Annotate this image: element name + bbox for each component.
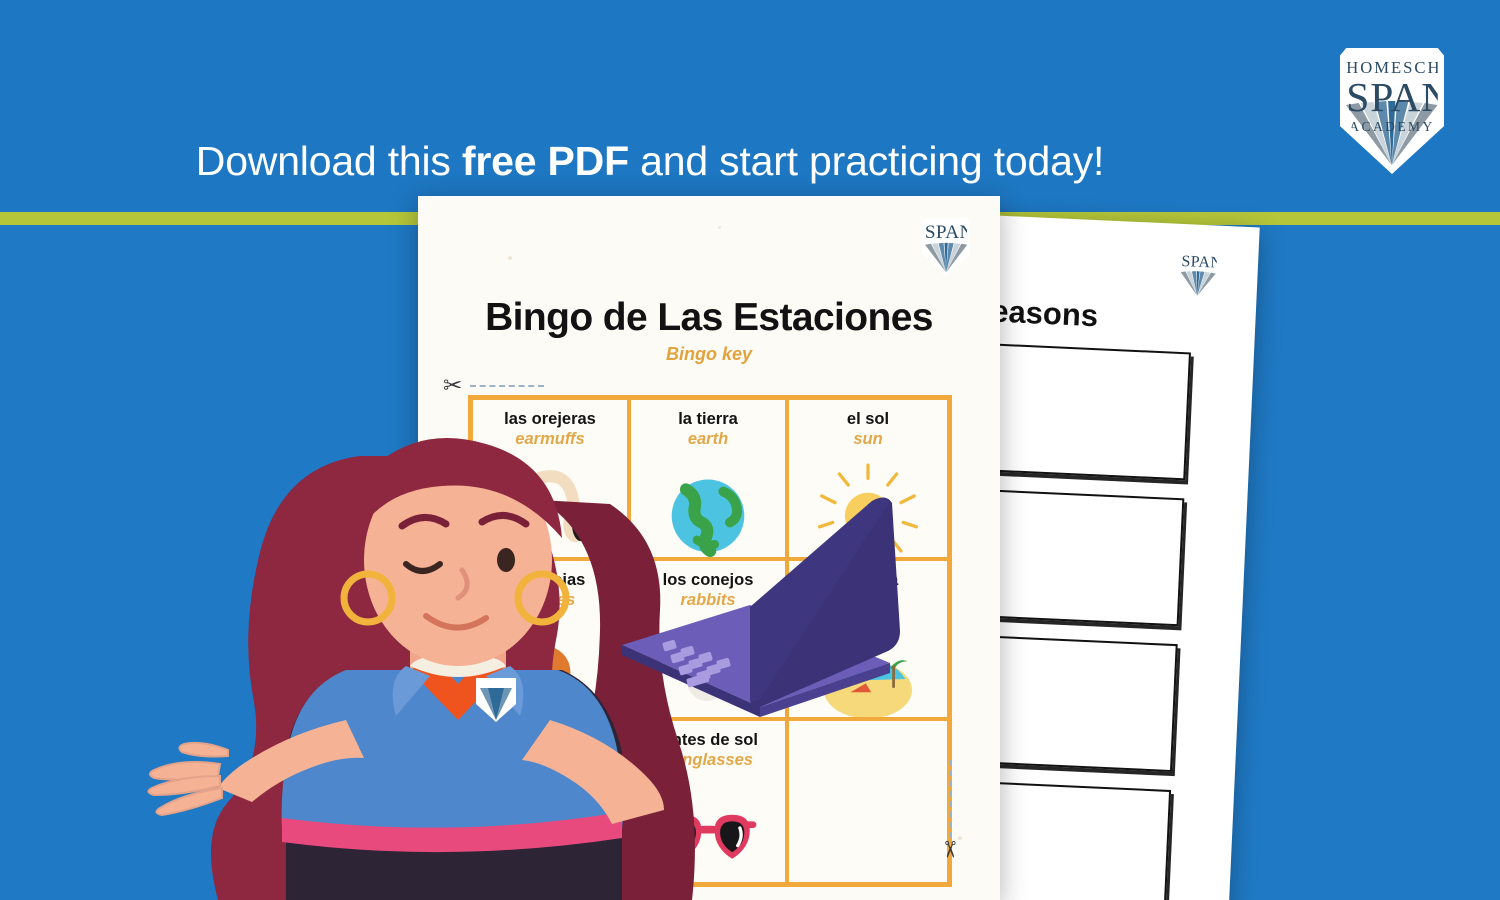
- cut-line-horizontal: [470, 385, 544, 389]
- worksheet-subtitle: Bingo key: [418, 344, 1000, 365]
- cut-line-vertical: [950, 760, 954, 838]
- back-logo-text: SPANISH: [1181, 254, 1217, 272]
- shield-rays-icon: [1180, 269, 1216, 297]
- worksheet-logo-line: SPANISH: [925, 223, 967, 243]
- cell-spanish-label: el sol: [789, 411, 947, 428]
- poster-canvas: Download this free PDF and start practic…: [0, 0, 1500, 900]
- laptop-illustration[interactable]: [600, 495, 930, 725]
- cell-english-label: sun: [789, 431, 947, 448]
- worksheet-logo-text: SPANISH: [925, 223, 967, 243]
- headline-part-2: and start practicing today!: [629, 138, 1104, 184]
- answer-box[interactable]: [969, 343, 1191, 481]
- worksheet-title: Bingo de Las Estaciones: [418, 296, 1000, 340]
- back-page-title: Seasons: [970, 292, 1251, 341]
- hand-left: [148, 743, 228, 815]
- brand-line-2: SPANISH: [1346, 76, 1438, 120]
- eye-right: [497, 548, 515, 572]
- scissors-icon: ✂: [938, 840, 961, 859]
- bingo-cell[interactable]: [789, 721, 947, 882]
- worksheet-logo: SPANISH: [922, 218, 970, 276]
- page-title: Download this free PDF and start practic…: [0, 138, 1300, 185]
- brand-logo: HOMESCHOOL SPANISH ACADEMY: [1340, 48, 1444, 174]
- shield-rays-icon: [925, 241, 967, 273]
- scissors-icon: ✂: [443, 374, 462, 397]
- headline-part-1: Download this: [196, 138, 462, 184]
- brand-logo-text: HOMESCHOOL SPANISH ACADEMY: [1346, 59, 1438, 134]
- headline-emphasis: free PDF: [462, 138, 629, 184]
- brand-line-3: ACADEMY: [1346, 120, 1438, 134]
- back-logo-line: SPANISH: [1181, 254, 1217, 272]
- back-page-logo: SPANISH: [1177, 250, 1219, 300]
